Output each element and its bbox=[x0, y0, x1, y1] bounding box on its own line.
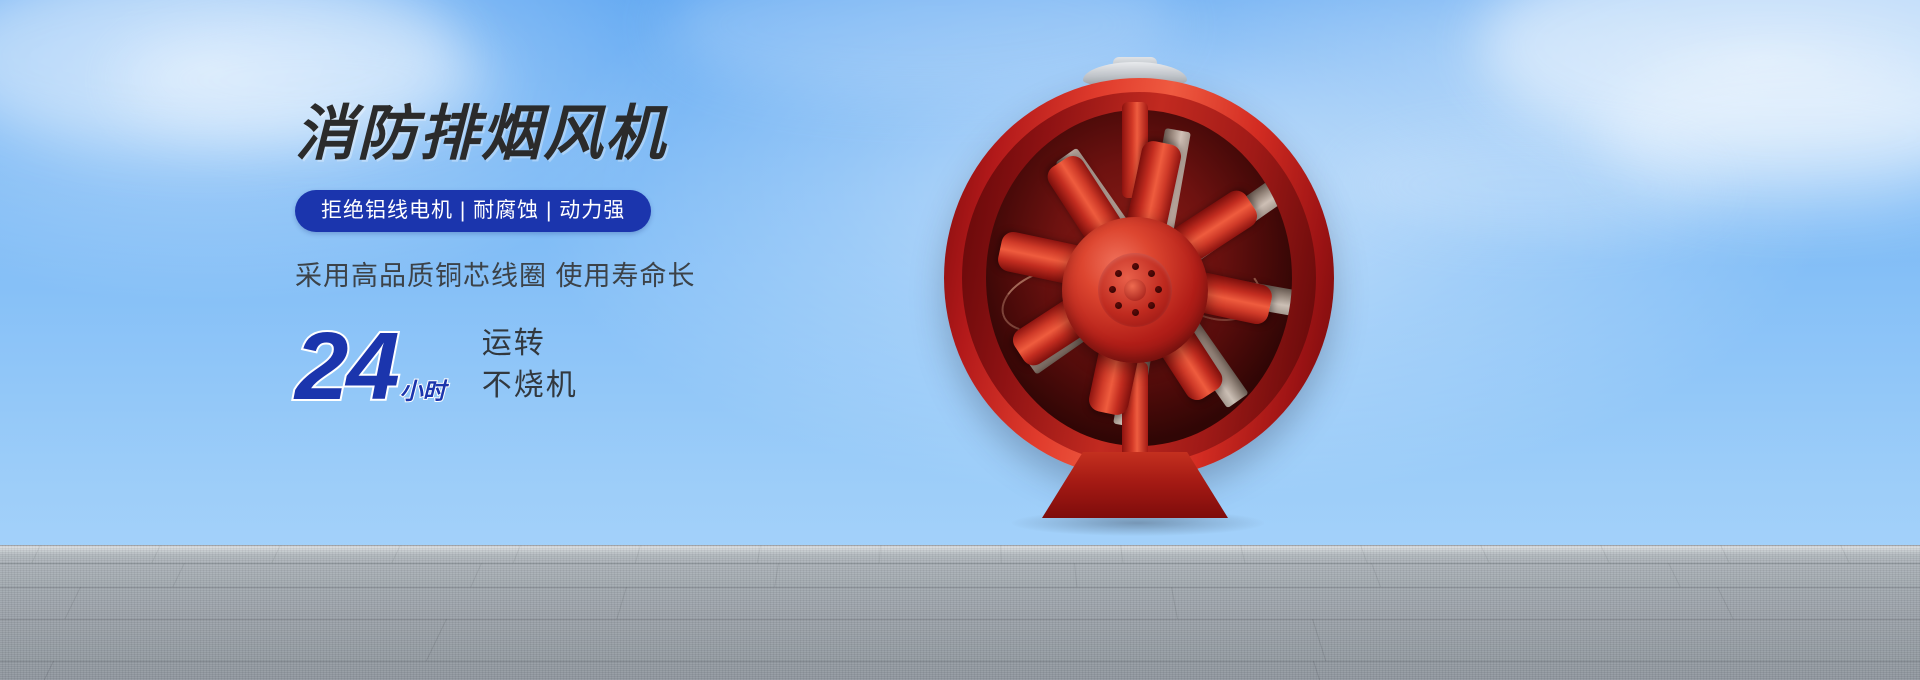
paving-seam bbox=[470, 563, 482, 587]
paving-seam bbox=[44, 661, 54, 680]
hub-bolt bbox=[1115, 270, 1122, 277]
hub-bolt bbox=[1155, 286, 1162, 293]
subtitle-text: 采用高品质铜芯线圈 使用寿命长 bbox=[295, 260, 935, 292]
cloud-wisp bbox=[1600, 60, 1920, 210]
paving-line bbox=[0, 661, 1920, 662]
banner-copy: 消防排烟风机 拒绝铝线电机 | 耐腐蚀 | 动力强 采用高品质铜芯线圈 使用寿命… bbox=[295, 104, 935, 412]
paving-seam bbox=[513, 545, 521, 563]
paving-line bbox=[0, 545, 1920, 546]
hub-bolt bbox=[1148, 302, 1155, 309]
feature-badge: 拒绝铝线电机 | 耐腐蚀 | 动力强 bbox=[295, 190, 651, 232]
paving-seam bbox=[1371, 563, 1381, 587]
ground-highlight bbox=[0, 545, 1920, 555]
paving-seam bbox=[425, 619, 446, 661]
paving-seam bbox=[31, 545, 41, 563]
paving-seam bbox=[774, 563, 779, 587]
paving-line bbox=[0, 587, 1920, 588]
promo-claim-line-1: 运转 bbox=[482, 323, 578, 366]
paving-seam bbox=[1717, 587, 1734, 619]
paving-seam bbox=[616, 587, 627, 619]
paving-seam bbox=[151, 545, 161, 563]
paving-seam bbox=[391, 545, 401, 563]
paving-seam bbox=[1240, 545, 1245, 563]
cloud-wisp bbox=[1340, 130, 1720, 240]
promo-claim-lines: 运转 不烧机 bbox=[482, 323, 578, 408]
paving-seam bbox=[64, 587, 81, 619]
hub-bolt bbox=[1148, 270, 1155, 277]
paving-seam bbox=[1120, 545, 1124, 563]
paving-seam bbox=[879, 545, 881, 563]
paving-seam bbox=[271, 545, 281, 563]
paving-seam bbox=[635, 545, 641, 563]
promo-banner: 消防排烟风机 拒绝铝线电机 | 耐腐蚀 | 动力强 采用高品质铜芯线圈 使用寿命… bbox=[0, 0, 1920, 680]
paving-seam bbox=[1600, 545, 1610, 563]
hours-unit: 小时 bbox=[400, 372, 446, 406]
cloud-wisp bbox=[1480, 0, 1920, 160]
paving-seam bbox=[1074, 563, 1077, 587]
paving-seam bbox=[173, 563, 186, 587]
paving-seam bbox=[1480, 545, 1490, 563]
promo-block: 24 小时 运转 不烧机 bbox=[295, 323, 935, 412]
paving-seam bbox=[1360, 545, 1368, 563]
hub-bolt bbox=[1132, 263, 1139, 270]
paving-seam bbox=[1000, 545, 1002, 563]
fan-hub bbox=[1062, 217, 1208, 363]
axial-fan-image bbox=[900, 62, 1370, 517]
paving-seam bbox=[1312, 619, 1326, 661]
paving-seam bbox=[1171, 587, 1178, 619]
paving-seam bbox=[757, 545, 761, 563]
hub-bolt bbox=[1132, 309, 1139, 316]
paving-seam bbox=[1720, 545, 1730, 563]
paving-ground bbox=[0, 545, 1920, 680]
paving-line bbox=[0, 619, 1920, 620]
fan-hub-nose bbox=[1124, 279, 1146, 301]
paving-seam bbox=[1313, 661, 1320, 680]
paving-seam bbox=[1668, 563, 1681, 587]
hours-number: 24 bbox=[295, 323, 398, 411]
hours-figure: 24 小时 bbox=[295, 323, 446, 411]
paving-line bbox=[0, 563, 1920, 564]
page-title: 消防排烟风机 bbox=[295, 104, 935, 164]
paving-seam bbox=[1840, 545, 1850, 563]
hub-bolt bbox=[1109, 286, 1116, 293]
promo-claim-line-2: 不烧机 bbox=[482, 365, 578, 408]
